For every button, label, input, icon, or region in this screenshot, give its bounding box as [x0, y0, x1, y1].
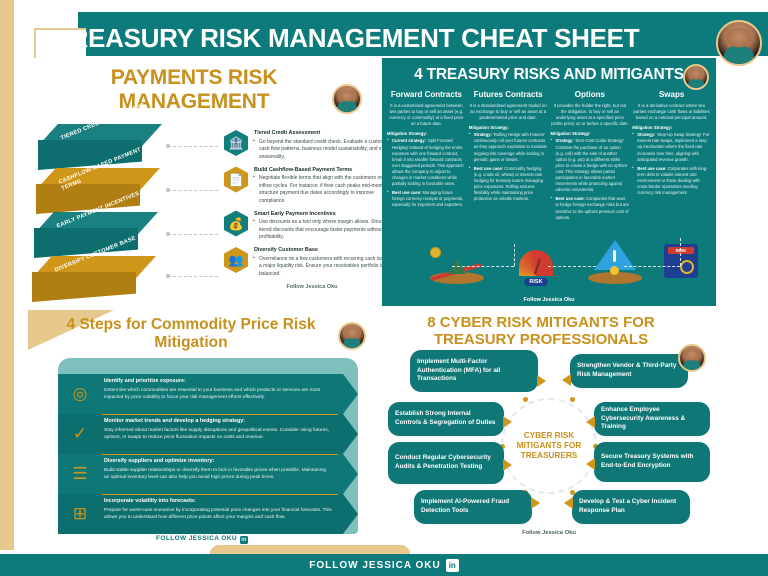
step-body: Build stable supplier relationships or d…: [104, 467, 332, 481]
risk-column-swaps: Swaps It is a derivative contract where …: [632, 90, 711, 224]
cyber-mitigant-mfa[interactable]: Implement Multi-Factor Authentication (M…: [410, 350, 538, 392]
point-lead: Strategy:: [556, 138, 574, 143]
step-divider: [102, 494, 338, 495]
step-body: Stay informed about market factors like …: [104, 427, 332, 441]
risk-column-options: Options It provides the holder the right…: [551, 90, 630, 224]
hub-dot: [523, 397, 528, 402]
step-heading: Diversify suppliers and optimize invento…: [104, 458, 332, 464]
callout-tail: [564, 497, 573, 509]
block-diversify-customer-base: DIVERSIFY CUSTOMER BASE: [32, 256, 156, 302]
author-avatar-steps: [338, 322, 366, 350]
header-notch: [14, 12, 78, 56]
risk-column-title: Swaps: [632, 90, 711, 100]
connector-line-1: [168, 146, 218, 147]
connector-dot-4: [166, 274, 170, 278]
step-divider: [102, 454, 338, 455]
warning-exclamation: [613, 250, 616, 262]
hub-dot: [570, 397, 575, 402]
linkedin-icon[interactable]: in: [240, 536, 248, 544]
payments-follow-text: Follow Jessica Oku: [224, 284, 400, 290]
mitigation-label: Mitigation Strategy:: [469, 125, 548, 130]
mitigation-point: Best use case: Managing future foreign c…: [387, 190, 466, 208]
risk-definition: It provides the holder the right, but no…: [551, 103, 630, 128]
list-item: ✓ Monitor market trends and develop a he…: [58, 414, 358, 454]
dashed-path-v1: [514, 244, 515, 266]
dashed-path-2: [548, 266, 596, 267]
footer-bar: FOLLOW JESSICA OKU in: [0, 554, 768, 576]
item-body: Use discounts as a tool only where margi…: [254, 219, 400, 242]
magnifier-icon: [680, 260, 694, 274]
cyber-mitigant-label: Strengthen Vendor & Third-Party Risk Man…: [577, 362, 681, 379]
step-heading: Identify and prioritize exposure:: [104, 378, 332, 384]
steps-follow-text: FOLLOW JESSICA OKUin: [28, 535, 376, 544]
item-body: Negotiate flexible terms that align with…: [254, 175, 400, 205]
item-body: Overreliance on a few customers with rec…: [254, 256, 400, 279]
document-chart-icon: 📄: [224, 167, 248, 193]
cyber-follow-text: Follow Jessica Oku: [382, 530, 716, 536]
cyber-mitigant-incident-response[interactable]: Develop & Test a Cyber Incident Response…: [572, 490, 690, 524]
mitigation-point: Strategy: 'Step-Up Swap Strategy' For in…: [632, 132, 711, 162]
point-lead: Best use case:: [392, 190, 421, 195]
document-list-icon: ☰: [58, 454, 102, 494]
risk-columns: Forward Contracts It is a customised agr…: [382, 84, 716, 224]
list-item: ◎ Identify and prioritize exposure: Dete…: [58, 374, 358, 414]
connector-line-2: [168, 190, 218, 191]
cyber-mitigant-encryption[interactable]: Secure Treasury Systems with End-to-End …: [594, 442, 710, 482]
item-heading: Tiered Credit Assessment: [254, 130, 400, 137]
person-warning-icon: [580, 238, 650, 284]
mitigation-point: Best use case: Companies that want to he…: [551, 196, 630, 220]
mitigation-label: Mitigation Strategy:: [387, 131, 466, 136]
point-text: Commodity hedging (e.g. crude oil, wheat…: [474, 166, 543, 201]
risk-report-icon: RISK: [660, 238, 704, 284]
list-item: 👥 Diversify Customer Base Overreliance o…: [224, 247, 400, 278]
step-heading: Incorporate volatility into forecasts:: [104, 498, 332, 504]
callout-tail: [586, 416, 595, 428]
list-item: ☰ Diversify suppliers and optimize inven…: [58, 454, 358, 494]
report-risk-label: RISK: [668, 247, 694, 254]
cyber-mitigant-label: Establish Strong Internal Controls & Seg…: [395, 410, 497, 427]
risk-column-futures: Futures Contracts It is a standardised a…: [469, 90, 548, 224]
seesaw-balance-icon: [422, 238, 492, 284]
callout-tail: [537, 375, 546, 387]
risk-column-title: Options: [551, 90, 630, 100]
item-body: Go beyond the standard credit check. Eva…: [254, 139, 400, 162]
dashed-path-3: [624, 266, 680, 267]
risk-definition: It is a customised agreement between two…: [387, 103, 466, 128]
payments-risk-panel: PAYMENTS RISK MANAGEMENT TIERED CREDIT A…: [28, 58, 376, 306]
point-lead: Current strategy:: [392, 138, 426, 143]
author-avatar-payments: [332, 84, 362, 114]
cyber-diagram: CYBER RISK MITIGANTS FOR TREASURERS Impl…: [382, 350, 716, 528]
risk-column-forward: Forward Contracts It is a customised agr…: [387, 90, 466, 224]
risk-gauge-icon: RISK: [510, 238, 562, 284]
list-item: ⊞ Incorporate volatility into forecasts:…: [58, 494, 358, 534]
callout-tail: [562, 374, 571, 386]
calculator-icon: ⊞: [58, 494, 102, 534]
point-lead: Best use case:: [474, 166, 503, 171]
payments-items-list: 🏦 Tiered Credit Assessment Go beyond the…: [224, 130, 400, 290]
cyber-mitigant-label: Secure Treasury Systems with End-to-End …: [601, 453, 703, 470]
step-body: Prepare for worst-case scenarios by inco…: [104, 507, 332, 521]
risk-column-title: Forward Contracts: [387, 90, 466, 100]
point-text: 'Split Forward Hedging' instead of hedgi…: [392, 138, 464, 186]
mitigation-point: Strategy: 'Zero-Cost Collar Strategy' Co…: [551, 138, 630, 193]
item-heading: Diversify Customer Base: [254, 247, 400, 254]
cyber-mitigants-panel: 8 CYBER RISK MITIGANTS FOR TREASURY PROF…: [382, 310, 716, 550]
list-item: 📄 Build Cashflow-Based Payment Terms Neg…: [224, 167, 400, 206]
callout-tail: [586, 458, 595, 470]
mitigation-point: Current strategy: 'Split Forward Hedging…: [387, 138, 466, 187]
callout-tail: [531, 497, 540, 509]
steps-panel-title: 4 Steps for Commodity Price Risk Mitigat…: [28, 310, 376, 353]
author-avatar-risks: [683, 64, 709, 90]
risk-illustrations: RISK RISK: [382, 232, 716, 290]
left-accent-bar: [0, 0, 14, 576]
cyber-mitigant-label: Develop & Test a Cyber Incident Response…: [579, 498, 683, 515]
cyber-mitigant-label: Implement Multi-Factor Authentication (M…: [417, 358, 531, 384]
cyber-hub-label: CYBER RISK MITIGANTS FOR TREASURERS: [503, 431, 595, 461]
payments-panel-title: PAYMENTS RISK MANAGEMENT: [28, 58, 376, 113]
dashed-path-v2: [680, 238, 681, 266]
cyber-mitigant-awareness[interactable]: Enhance Employee Cybersecurity Awareness…: [594, 402, 710, 436]
risks-follow-text: Follow Jessica Oku: [382, 297, 716, 303]
point-lead: Best use case:: [637, 166, 666, 171]
risk-definition: It is a standardised agreement traded on…: [469, 103, 548, 122]
mitigation-label: Mitigation Strategy:: [551, 131, 630, 136]
step-body: Determine which commodities are essentia…: [104, 387, 332, 401]
point-lead: Best use case:: [556, 196, 585, 201]
dashed-path-1: [452, 266, 514, 267]
list-item: 🏦 Tiered Credit Assessment Go beyond the…: [224, 130, 400, 161]
connector-line-4: [168, 276, 218, 277]
cyber-mitigant-label: Conduct Regular Cybersecurity Audits & P…: [395, 454, 497, 471]
risk-column-title: Futures Contracts: [469, 90, 548, 100]
steps-list: ◎ Identify and prioritize exposure: Dete…: [58, 374, 358, 534]
cyber-mitigant-label: Enhance Employee Cybersecurity Awareness…: [601, 406, 703, 432]
cyber-panel-title: 8 CYBER RISK MITIGANTS FOR TREASURY PROF…: [382, 310, 716, 349]
mitigation-point: Best use case: Commodity hedging (e.g. c…: [469, 166, 548, 203]
money-incentive-icon: 💰: [224, 211, 248, 237]
point-lead: Strategy:: [637, 132, 655, 137]
bank-building-icon: 🏦: [224, 130, 248, 156]
mitigation-point: Best use case: Corporates with long-term…: [632, 166, 711, 196]
cyber-mitigant-vendor[interactable]: Strengthen Vendor & Third-Party Risk Man…: [570, 354, 688, 388]
header-bar: TREASURY RISK MANAGEMENT CHEAT SHEET: [14, 12, 768, 56]
infographic-page: TREASURY RISK MANAGEMENT CHEAT SHEET PAY…: [0, 0, 768, 576]
step-heading: Monitor market trends and develop a hedg…: [104, 418, 332, 424]
cyber-mitigant-ai-fraud[interactable]: Implement AI-Powered Fraud Detection Too…: [414, 490, 532, 524]
footer-label: FOLLOW JESSICA OKU: [309, 560, 441, 571]
customers-group-icon: 👥: [224, 247, 248, 273]
treasury-risks-panel: 4 TREASURY RISKS AND MITIGANTS Forward C…: [382, 58, 716, 306]
linkedin-icon[interactable]: in: [446, 559, 459, 572]
list-item: 💰 Smart Early Payment Incentives Use dis…: [224, 211, 400, 242]
steps-card: ◎ Identify and prioritize exposure: Dete…: [58, 358, 358, 534]
target-bullseye-icon: ◎: [58, 374, 102, 414]
connector-dot-1: [166, 144, 170, 148]
author-avatar-cyber: [678, 344, 706, 372]
cyber-mitigant-audits[interactable]: Conduct Regular Cybersecurity Audits & P…: [388, 442, 504, 484]
tiered-blocks-diagram: TIERED CREDIT ASSESSMENT CASHFLOW-BASED …: [30, 124, 180, 300]
block-front-face: [32, 272, 136, 302]
cyber-mitigant-internal-controls[interactable]: Establish Strong Internal Controls & Seg…: [388, 402, 504, 436]
connector-line-3: [168, 234, 218, 235]
mitigation-label: Mitigation Strategy:: [632, 125, 711, 130]
page-title: TREASURY RISK MANAGEMENT CHEAT SHEET: [54, 23, 639, 54]
commodity-steps-panel: 4 Steps for Commodity Price Risk Mitigat…: [28, 310, 376, 550]
footer-tan-accent: [210, 545, 410, 554]
point-lead: Strategy:: [474, 132, 492, 137]
gauge-label: RISK: [524, 278, 547, 286]
person-head: [610, 266, 619, 275]
point-text: 'Zero-Cost Collar Strategy' Combine the …: [556, 138, 627, 192]
author-avatar-header: [716, 20, 762, 66]
callout-tail: [503, 416, 512, 428]
coin-icon: [430, 247, 441, 258]
item-heading: Build Cashflow-Based Payment Terms: [254, 167, 400, 174]
item-heading: Smart Early Payment Incentives: [254, 211, 400, 218]
connector-dot-3: [166, 232, 170, 236]
cyber-mitigant-label: Implement AI-Powered Fraud Detection Too…: [421, 498, 525, 515]
cyber-hub: CYBER RISK MITIGANTS FOR TREASURERS: [501, 398, 597, 494]
risk-definition: It is a derivative contract where two pa…: [632, 103, 711, 122]
clipboard-check-icon: ✓: [58, 414, 102, 454]
connector-dot-2: [166, 188, 170, 192]
callout-tail: [503, 459, 512, 471]
steps-follow-label: FOLLOW JESSICA OKU: [156, 535, 237, 542]
step-divider: [102, 414, 338, 415]
risks-panel-title: 4 TREASURY RISKS AND MITIGANTS: [382, 58, 716, 84]
mitigation-point: Strategy: 'Rolling Hedge with Futures' c…: [469, 132, 548, 162]
